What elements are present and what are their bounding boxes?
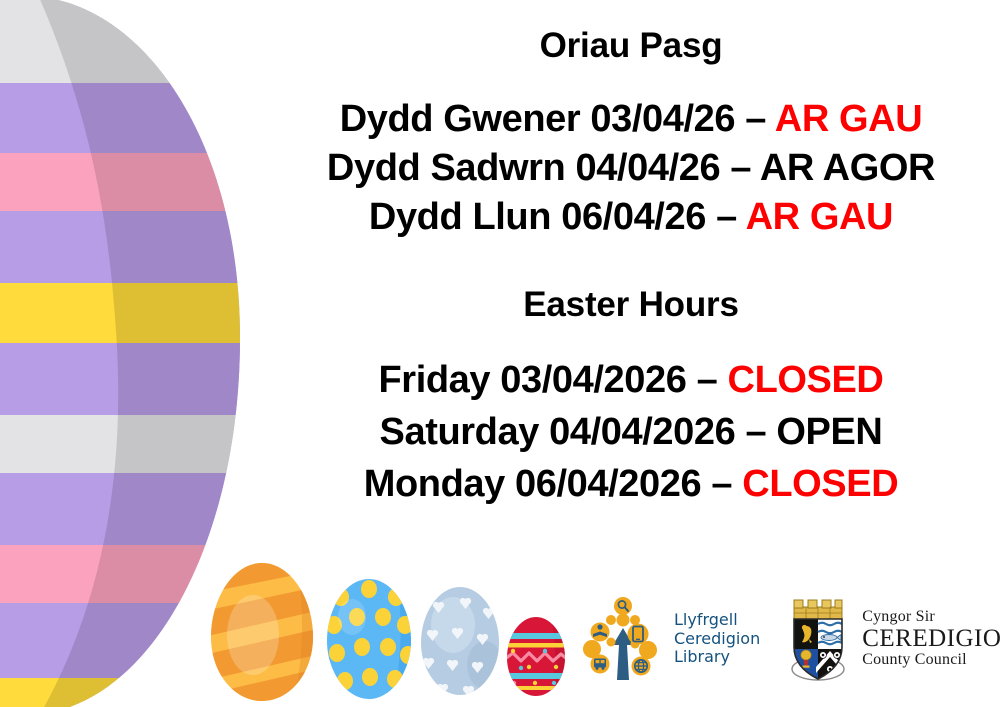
council-logo-line1: Cyngor Sir xyxy=(862,609,1000,626)
hours-day-date: Dydd Llun 06/04/26 – xyxy=(369,196,746,238)
council-logo-line3: County Council xyxy=(862,652,1000,669)
hours-line: Dydd Llun 06/04/26 – AR GAU xyxy=(262,196,1000,239)
mural-crown xyxy=(794,600,842,619)
hours-status: CLOSED xyxy=(728,359,884,401)
poster-text-content: Oriau Pasg Dydd Gwener 03/04/26 – AR GAU… xyxy=(262,0,1000,560)
easter-egg-row xyxy=(205,555,575,707)
hours-day-date: Dydd Gwener 03/04/26 – xyxy=(340,98,775,140)
english-heading: Easter Hours xyxy=(262,285,1000,325)
easter-hours-poster: Oriau Pasg Dydd Gwener 03/04/26 – AR GAU… xyxy=(0,0,1000,707)
library-logo-line3: Library xyxy=(674,648,760,667)
hours-line: Dydd Gwener 03/04/26 – AR GAU xyxy=(262,98,1000,141)
council-logo-text: Cyngor Sir CEREDIGION County Council xyxy=(862,609,1000,669)
orange-striped-egg xyxy=(205,555,325,707)
hours-status: AR AGOR xyxy=(760,147,935,189)
hours-line: Dydd Sadwrn 04/04/26 – AR AGOR xyxy=(262,147,1000,190)
library-tree-icon xyxy=(580,594,666,684)
library-logo-text: Llyfrgell Ceredigion Library xyxy=(674,611,760,667)
hours-status: CLOSED xyxy=(742,463,898,505)
hours-status: OPEN xyxy=(776,411,882,453)
hours-line: Friday 03/04/2026 – CLOSED xyxy=(262,359,1000,402)
hours-day-date: Saturday 04/04/2026 – xyxy=(380,411,777,453)
blue-polka-dot-egg xyxy=(320,555,420,707)
library-logo: Llyfrgell Ceredigion Library xyxy=(580,594,760,684)
english-hours-list: Friday 03/04/2026 – CLOSED Saturday 04/0… xyxy=(262,359,1000,506)
hours-status: AR GAU xyxy=(775,98,923,140)
ceredigion-coat-of-arms xyxy=(782,593,854,685)
logo-bar: Llyfrgell Ceredigion Library xyxy=(580,593,1000,685)
library-logo-line2: Ceredigion xyxy=(674,630,760,649)
hours-line: Saturday 04/04/2026 – OPEN xyxy=(262,411,1000,454)
light-blue-heart-egg xyxy=(415,575,507,707)
hours-day-date: Dydd Sadwrn 04/04/26 – xyxy=(327,147,760,189)
library-logo-line1: Llyfrgell xyxy=(674,611,760,630)
council-logo-line2: CEREDIGION xyxy=(862,626,1000,652)
hours-day-date: Monday 06/04/2026 – xyxy=(364,463,743,505)
welsh-heading: Oriau Pasg xyxy=(262,26,1000,66)
red-zigzag-egg xyxy=(503,610,569,707)
council-logo: Cyngor Sir CEREDIGION County Council xyxy=(782,593,1000,685)
large-striped-easter-egg xyxy=(0,0,265,707)
welsh-hours-list: Dydd Gwener 03/04/26 – AR GAU Dydd Sadwr… xyxy=(262,98,1000,239)
hours-day-date: Friday 03/04/2026 – xyxy=(379,359,728,401)
hours-line: Monday 06/04/2026 – CLOSED xyxy=(262,463,1000,506)
hours-status: AR GAU xyxy=(746,196,894,238)
